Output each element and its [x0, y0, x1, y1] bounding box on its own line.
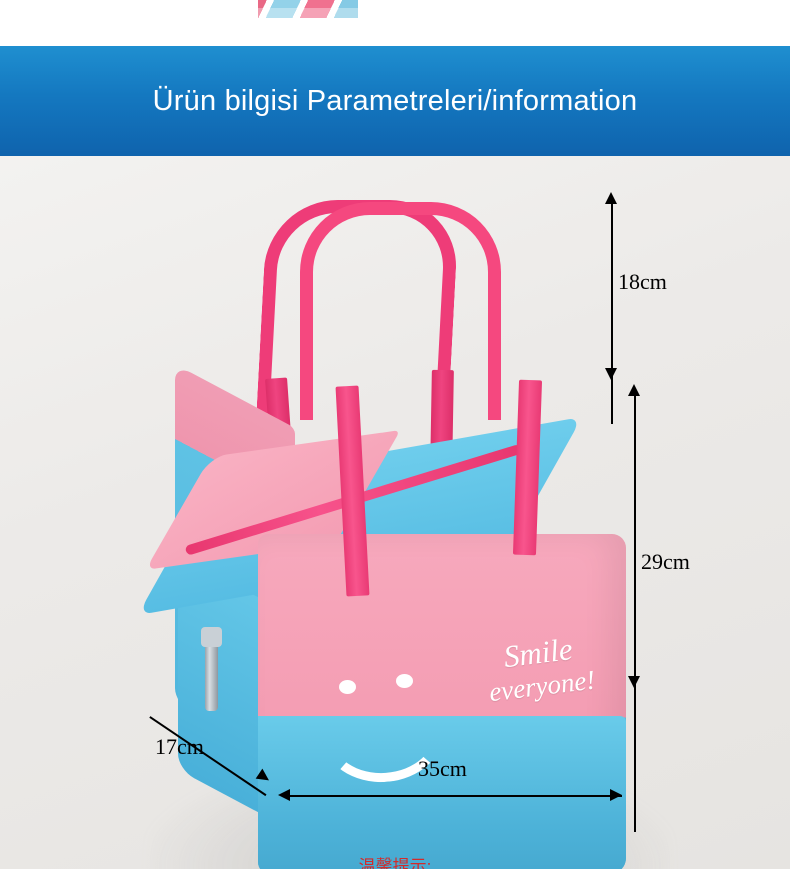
handle-height-line	[611, 204, 613, 424]
width-line	[288, 795, 622, 797]
body-height-arrow-bottom	[628, 676, 640, 688]
section-banner: Ürün bilgisi Parametreleri/information	[0, 46, 790, 156]
handle-height-label: 18cm	[618, 269, 667, 295]
width-arrow-left	[278, 789, 290, 801]
partial-product-photo	[258, 0, 358, 18]
top-photo-strip	[0, 0, 790, 46]
body-height-arrow-top	[628, 384, 640, 396]
bottom-caption: 温馨提示:	[0, 852, 790, 869]
zipper-pull	[205, 641, 218, 711]
depth-label: 17cm	[155, 734, 204, 760]
bag-strap-front-right	[513, 380, 542, 556]
body-height-label: 29cm	[641, 549, 690, 575]
width-label: 35cm	[418, 756, 467, 782]
body-height-line	[634, 392, 636, 832]
bag-handle-front	[300, 202, 501, 420]
duffel-bag-illustration: Smile everyone!	[0, 156, 790, 869]
handle-height-arrow-bottom	[605, 368, 617, 380]
product-photo: Smile everyone! 18cm 29cm 17cm	[0, 156, 790, 869]
width-arrow-right	[610, 789, 622, 801]
handle-height-arrow-top	[605, 192, 617, 204]
product-info-page: Ürün bilgisi Parametreleri/information S…	[0, 0, 790, 869]
banner-title: Ürün bilgisi Parametreleri/information	[153, 85, 638, 118]
